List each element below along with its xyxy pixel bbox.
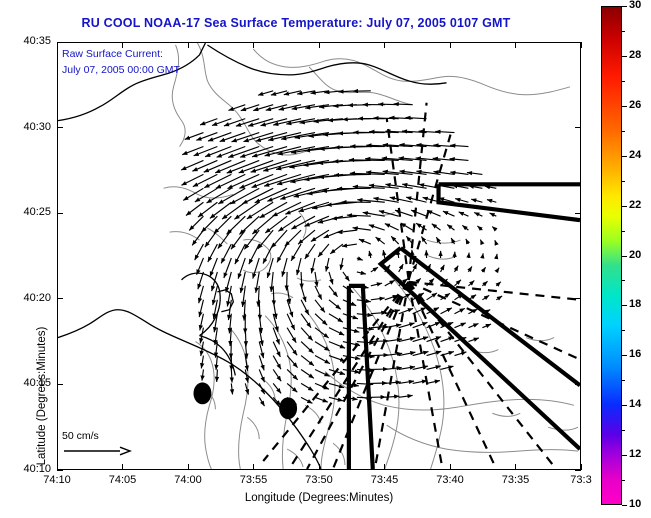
current-vector xyxy=(343,272,349,281)
x-axis-tick xyxy=(515,42,516,48)
current-vector xyxy=(342,244,357,246)
map-canvas xyxy=(58,43,580,469)
x-axis-tick-label: 74:05 xyxy=(93,474,153,486)
current-vector xyxy=(468,280,474,285)
current-vector xyxy=(273,383,281,393)
page-title: RU COOL NOAA-17 Sea Surface Temperature:… xyxy=(0,16,592,30)
colorbar-tick xyxy=(622,455,627,456)
current-vector xyxy=(383,250,384,258)
current-vector xyxy=(496,254,497,258)
x-axis-tick xyxy=(122,464,123,470)
current-vector xyxy=(468,266,471,271)
current-vector xyxy=(271,230,287,248)
current-vector xyxy=(385,382,401,383)
current-vector xyxy=(204,174,231,187)
x-axis-tick xyxy=(384,464,385,470)
current-vector xyxy=(287,383,297,392)
y-axis-tick xyxy=(575,384,581,385)
current-vector xyxy=(287,356,297,368)
colorbar-minor-tick xyxy=(622,31,625,32)
current-vector xyxy=(282,258,287,277)
current-vector xyxy=(273,356,281,370)
x-axis-tick xyxy=(515,464,516,470)
x-axis-tick xyxy=(450,464,451,470)
current-vector xyxy=(216,356,217,370)
current-vector xyxy=(231,230,245,249)
current-vector xyxy=(201,356,203,369)
current-vector xyxy=(301,397,312,403)
current-vector xyxy=(329,300,341,309)
colorbar-minor-tick xyxy=(622,280,625,281)
current-vector xyxy=(490,213,497,216)
current-vector xyxy=(454,352,466,356)
colorbar-tick-label: 28 xyxy=(629,49,641,61)
annotation-line-1: Raw Surface Current: xyxy=(62,48,163,60)
colorbar-tick-label: 12 xyxy=(629,448,641,460)
current-vector xyxy=(487,200,496,203)
current-vector xyxy=(329,328,344,335)
current-vector xyxy=(427,293,437,300)
current-vector xyxy=(218,188,245,204)
current-vector xyxy=(492,227,496,231)
current-vector xyxy=(427,211,441,217)
current-vector xyxy=(329,314,343,322)
current-vector xyxy=(301,356,314,366)
current-vector xyxy=(195,244,204,260)
scale-bar-arrow xyxy=(62,445,132,457)
x-axis-title: Longitude (Degrees:Minutes) xyxy=(57,492,581,504)
current-vector xyxy=(202,369,203,380)
x-axis-tick xyxy=(319,42,320,48)
current-vector xyxy=(301,342,313,354)
current-vector xyxy=(334,174,371,175)
current-vector xyxy=(399,308,413,313)
current-vector xyxy=(466,239,469,244)
current-vector xyxy=(301,328,313,341)
current-vector xyxy=(496,282,500,286)
current-vector xyxy=(441,265,445,272)
current-vector xyxy=(315,314,327,325)
current-vector xyxy=(326,258,329,272)
current-vector xyxy=(315,369,330,376)
current-vector xyxy=(468,338,478,342)
colorbar-tick-label: 26 xyxy=(629,99,641,111)
current-vector xyxy=(482,281,487,286)
current-vector xyxy=(454,308,464,313)
current-vector xyxy=(485,186,496,188)
x-axis-tick xyxy=(188,464,189,470)
map-plot-area[interactable] xyxy=(57,42,581,470)
current-vector xyxy=(399,395,413,397)
current-vector xyxy=(427,337,442,342)
current-vector xyxy=(210,202,231,218)
current-vector xyxy=(496,296,502,300)
colorbar-tick-label: 30 xyxy=(629,0,641,11)
current-vector xyxy=(287,342,297,356)
current-vector xyxy=(277,244,287,262)
current-vector xyxy=(413,264,417,272)
x-axis-tick-label: 73:35 xyxy=(486,474,546,486)
current-vector xyxy=(220,133,246,142)
current-vector xyxy=(315,328,329,338)
current-vector xyxy=(217,369,218,381)
current-vector xyxy=(263,244,273,264)
current-vector xyxy=(215,160,245,172)
current-vector xyxy=(357,272,366,274)
colorbar-minor-tick xyxy=(622,181,625,182)
current-vector xyxy=(192,160,217,171)
x-axis-tick-label: 73:50 xyxy=(289,474,349,486)
current-vector xyxy=(376,237,385,244)
colorbar-minor-tick xyxy=(622,480,625,481)
colorbar-minor-tick xyxy=(622,330,625,331)
current-vector xyxy=(273,369,281,381)
current-vector xyxy=(208,133,231,141)
current-vector xyxy=(399,264,403,272)
current-vector xyxy=(301,383,313,390)
colorbar-minor-tick xyxy=(622,131,625,132)
current-vector xyxy=(192,230,203,245)
current-vector xyxy=(391,236,398,244)
current-vector xyxy=(399,381,414,383)
y-axis-tick xyxy=(57,127,63,128)
x-axis-tick xyxy=(581,42,582,48)
current-vector xyxy=(301,369,314,378)
x-axis-tick xyxy=(319,464,320,470)
colorbar-tick-label: 14 xyxy=(629,398,641,410)
current-vector xyxy=(298,230,315,244)
current-vector xyxy=(468,295,476,300)
y-axis-tick-label: 40:30 xyxy=(5,121,51,133)
current-vector xyxy=(399,323,415,328)
x-axis-tick xyxy=(57,42,58,48)
current-vector xyxy=(194,147,218,156)
current-vector xyxy=(193,174,218,186)
current-vector xyxy=(394,104,413,105)
current-vector xyxy=(265,216,287,233)
current-vector xyxy=(371,283,382,286)
current-vector xyxy=(329,286,338,297)
scale-bar-label: 50 cm/s xyxy=(62,430,132,442)
current-vector xyxy=(369,225,385,230)
current-vector xyxy=(427,366,441,369)
current-vector xyxy=(311,258,315,273)
current-vector xyxy=(441,308,452,314)
current-vector xyxy=(297,258,301,275)
current-vector xyxy=(432,224,441,230)
current-vector xyxy=(197,258,204,275)
current-vector xyxy=(474,213,482,217)
current-vector xyxy=(347,215,371,216)
current-vector xyxy=(482,267,485,272)
colorbar-tick xyxy=(622,106,627,107)
current-vector xyxy=(259,383,264,394)
current-vector xyxy=(427,351,442,355)
current-vector xyxy=(181,160,203,170)
y-axis-tick xyxy=(57,384,63,385)
current-vector xyxy=(441,366,454,369)
current-vector xyxy=(287,369,298,379)
colorbar-tick xyxy=(622,56,627,57)
current-vector xyxy=(231,383,232,394)
current-vector xyxy=(371,267,378,272)
current-vector xyxy=(329,383,344,387)
current-vector xyxy=(496,268,499,272)
current-vector xyxy=(315,286,322,300)
current-vector xyxy=(482,324,491,328)
colorbar-minor-tick xyxy=(622,81,625,82)
current-vector xyxy=(248,119,273,126)
x-axis-tick-label: 73:55 xyxy=(224,474,284,486)
y-axis-tick xyxy=(575,213,581,214)
current-vector xyxy=(443,211,455,216)
current-vector xyxy=(205,147,231,157)
radar-station-markers xyxy=(193,382,297,419)
current-vector xyxy=(230,188,259,204)
current-vector xyxy=(341,258,343,270)
current-vector xyxy=(357,397,372,398)
current-vector xyxy=(247,202,273,219)
current-vector xyxy=(371,298,385,300)
current-vector xyxy=(357,383,373,384)
y-axis-tick-label: 40:35 xyxy=(5,35,51,47)
x-axis-tick xyxy=(253,42,254,48)
x-axis-tick-label: 73:45 xyxy=(355,474,415,486)
radar-coverage-dashed-rays xyxy=(263,103,580,469)
current-vector xyxy=(301,286,306,302)
y-axis-title: Latitude (Degrees:Minutes) xyxy=(36,281,48,511)
current-vector xyxy=(359,239,371,244)
current-vector xyxy=(201,216,217,232)
current-vector xyxy=(278,216,301,231)
station-marker xyxy=(193,382,211,404)
current-vector xyxy=(329,342,345,349)
current-vector xyxy=(259,397,264,406)
y-axis-title-wrap: Latitude (Degrees:Minutes) xyxy=(12,140,32,370)
current-vector xyxy=(385,280,395,286)
current-vector xyxy=(332,216,357,219)
current-vector xyxy=(329,397,343,400)
current-vector xyxy=(204,160,232,172)
x-axis-tick xyxy=(188,42,189,48)
current-vector xyxy=(222,202,245,219)
x-axis-tick xyxy=(122,42,123,48)
current-vector xyxy=(189,216,203,230)
annotation-line-2: July 07, 2005 00:00 GMT xyxy=(62,64,180,76)
colorbar-tick xyxy=(622,505,627,506)
colorbar-minor-tick xyxy=(622,380,625,381)
current-vector xyxy=(441,337,454,342)
current-vector xyxy=(343,328,359,332)
current-vector xyxy=(454,280,460,286)
current-vector xyxy=(411,210,427,216)
current-vector xyxy=(315,397,328,402)
current-vector xyxy=(287,314,295,330)
current-vector xyxy=(413,381,427,384)
current-vector xyxy=(441,352,454,356)
colorbar-minor-tick xyxy=(622,231,625,232)
current-vector xyxy=(447,225,454,231)
current-vector xyxy=(459,212,469,216)
colorbar-tick-label: 10 xyxy=(629,498,641,510)
current-vector xyxy=(330,244,343,254)
current-vector xyxy=(205,230,217,247)
x-axis-tick-label: 73:40 xyxy=(420,474,480,486)
colorbar-minor-tick xyxy=(622,430,625,431)
current-vector xyxy=(477,226,482,230)
current-vector xyxy=(357,258,363,260)
y-axis-tick xyxy=(57,470,63,471)
colorbar-tick xyxy=(622,405,627,406)
y-axis-tick xyxy=(575,298,581,299)
current-vector xyxy=(421,237,426,244)
current-vector xyxy=(495,240,496,244)
current-vector xyxy=(369,251,371,258)
current-vector xyxy=(301,300,309,315)
current-vector xyxy=(216,174,245,188)
y-axis-tick xyxy=(57,213,63,214)
scale-bar: 50 cm/s xyxy=(62,430,132,462)
current-vector xyxy=(291,244,301,261)
current-vector xyxy=(451,238,454,244)
station-marker xyxy=(279,397,297,419)
x-axis-tick-label: 74:00 xyxy=(158,474,218,486)
current-vector xyxy=(236,119,259,127)
current-vector xyxy=(454,266,458,272)
current-vector xyxy=(217,147,246,158)
current-vector xyxy=(427,381,440,384)
x-axis-tick xyxy=(253,464,254,470)
current-vector xyxy=(315,300,325,313)
current-vector xyxy=(186,202,203,215)
current-vector xyxy=(462,225,468,230)
current-vector xyxy=(198,272,204,289)
current-vector xyxy=(468,323,478,327)
current-vector xyxy=(454,323,465,328)
current-vector xyxy=(234,202,259,219)
current-vector xyxy=(482,253,483,258)
current-vector xyxy=(315,356,330,364)
current-vector xyxy=(395,210,413,216)
y-axis-tick xyxy=(575,470,581,471)
colorbar-title-wrap: Temperature (°C) xyxy=(626,150,648,370)
current-vector xyxy=(218,230,231,248)
current-vector xyxy=(315,272,317,287)
x-axis-tick xyxy=(450,42,451,48)
current-vector xyxy=(259,369,264,382)
current-vector xyxy=(471,199,482,202)
current-vector xyxy=(385,224,399,231)
current-vector xyxy=(427,322,441,327)
current-vector xyxy=(412,250,413,258)
temperature-colorbar[interactable] xyxy=(601,6,622,505)
current-vector xyxy=(467,172,482,174)
current-vector xyxy=(305,244,315,259)
y-axis-tick xyxy=(57,42,63,43)
current-vector xyxy=(329,272,333,284)
y-axis-tick xyxy=(57,298,63,299)
current-vector xyxy=(480,240,482,244)
current-vector xyxy=(208,244,218,262)
y-axis-tick xyxy=(575,127,581,128)
current-vector xyxy=(468,253,469,258)
colorbar-tick xyxy=(622,6,627,7)
x-axis-tick xyxy=(384,42,385,48)
current-vector xyxy=(318,244,329,257)
current-vector xyxy=(455,199,468,203)
current-vector xyxy=(482,295,489,299)
current-vector xyxy=(231,369,232,382)
y-axis-tick xyxy=(575,42,581,43)
